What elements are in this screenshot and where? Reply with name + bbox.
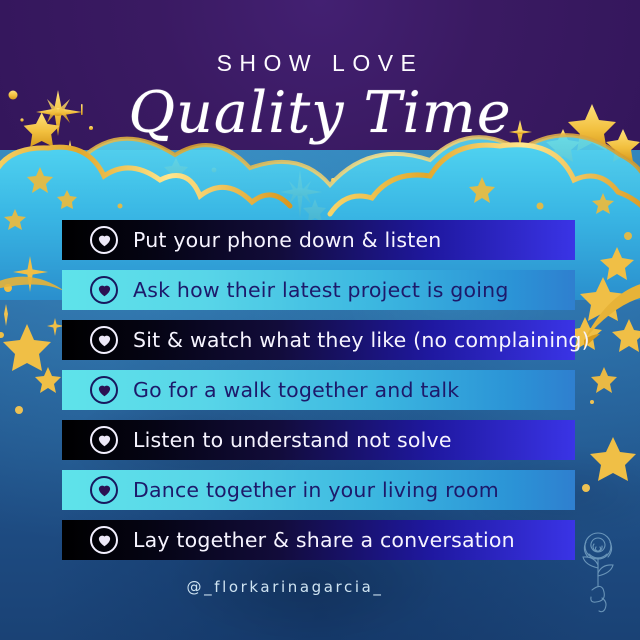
list-item-label: Lay together & share a conversation	[133, 528, 515, 552]
list-item[interactable]: Sit & watch what they like (no complaini…	[62, 320, 575, 360]
heart-in-circle-icon	[90, 426, 118, 454]
list-item[interactable]: Go for a walk together and talk	[62, 370, 575, 410]
list-item[interactable]: Ask how their latest project is going	[62, 270, 575, 310]
list-item-label: Dance together in your living room	[133, 478, 499, 502]
list-item-label: Listen to understand not solve	[133, 428, 452, 452]
heart-in-circle-icon	[90, 276, 118, 304]
page-title: Quality Time	[0, 80, 640, 146]
rose-icon	[565, 520, 631, 615]
list-item-label: Put your phone down & listen	[133, 228, 441, 252]
heart-in-circle-icon	[90, 526, 118, 554]
list-item-label: Ask how their latest project is going	[133, 278, 509, 302]
list-item-label: Sit & watch what they like (no complaini…	[133, 328, 590, 352]
kicker-title: SHOW LOVE	[0, 50, 640, 77]
poster-canvas: SHOW LOVE Quality Time Put your phone do…	[0, 0, 640, 640]
list-item-label: Go for a walk together and talk	[133, 378, 459, 402]
heart-in-circle-icon	[90, 326, 118, 354]
heart-in-circle-icon	[90, 376, 118, 404]
heart-in-circle-icon	[90, 226, 118, 254]
list-item[interactable]: Listen to understand not solve	[62, 420, 575, 460]
tips-list: Put your phone down & listen Ask how the…	[62, 220, 575, 570]
list-item[interactable]: Dance together in your living room	[62, 470, 575, 510]
list-item[interactable]: Lay together & share a conversation	[62, 520, 575, 560]
heart-in-circle-icon	[90, 476, 118, 504]
list-item[interactable]: Put your phone down & listen	[62, 220, 575, 260]
instagram-handle: @_florkarinagarcia_	[0, 578, 570, 596]
